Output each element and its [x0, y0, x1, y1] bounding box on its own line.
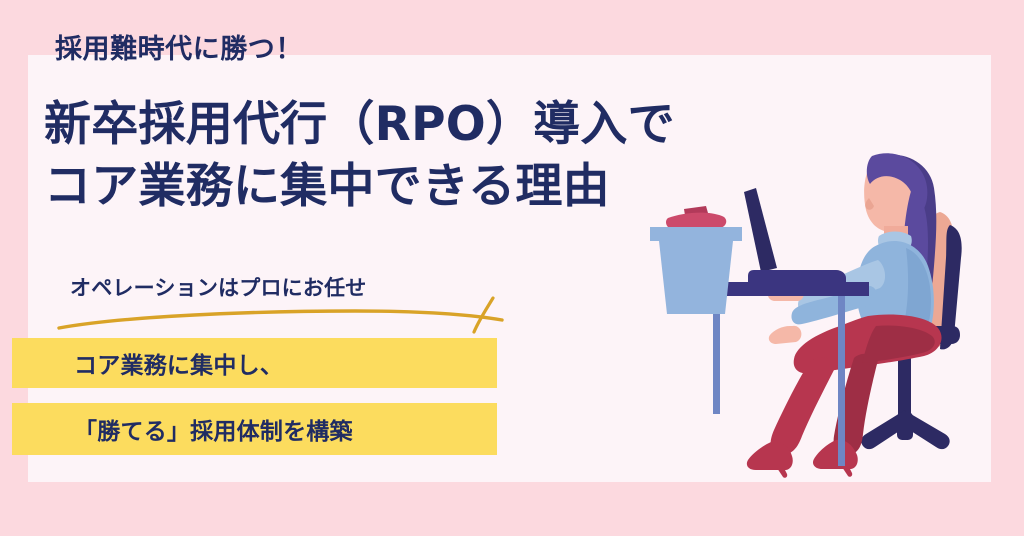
plant-illustration [666, 206, 726, 230]
highlight-box-1: コア業務に集中し、 [12, 338, 497, 388]
highlight-box-2-label: 「勝てる」採用体制を構築 [74, 412, 353, 446]
eyebrow-text: 採用難時代に勝つ！ [55, 35, 303, 65]
subcopy-text: オペレーションはプロにお任せ [70, 272, 367, 302]
highlight-box-2: 「勝てる」採用体制を構築 [12, 403, 497, 455]
highlight-box-1-label: コア業務に集中し、 [74, 346, 283, 380]
headline-line-2: コア業務に集中できる理由 [44, 156, 675, 218]
woman-working-at-desk-illustration [640, 130, 991, 482]
laptop-illustration [744, 188, 846, 282]
marketing-banner: 採用難時代に勝つ！ 新卒採用代行（RPO）導入で コア業務に集中できる理由 オペ… [0, 0, 1024, 536]
page-title: 新卒採用代行（RPO）導入で コア業務に集中できる理由 [44, 94, 675, 218]
high-heel-shoe-front [747, 442, 793, 478]
headline-line-1: 新卒採用代行（RPO）導入で [44, 94, 675, 156]
waste-bin-illustration [650, 206, 742, 314]
